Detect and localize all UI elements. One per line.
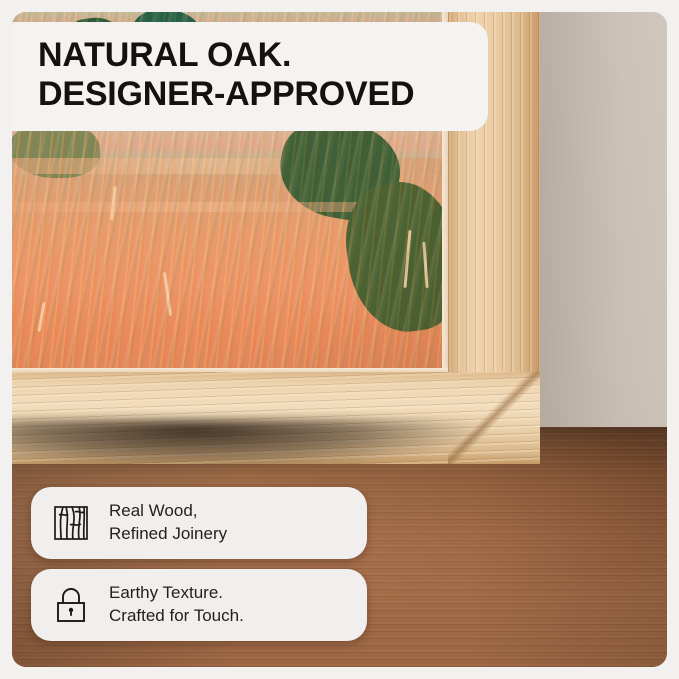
wood-grain-icon	[49, 501, 93, 545]
feature-card-text: Earthy Texture. Crafted for Touch.	[109, 582, 244, 628]
feature-line-2: Refined Joinery	[109, 523, 227, 546]
feature-line-1: Earthy Texture.	[109, 582, 244, 605]
feature-card-list: Real Wood, Refined Joinery Earthy Textur…	[31, 487, 367, 641]
feature-line-2: Crafted for Touch.	[109, 605, 244, 628]
headline-banner: NATURAL OAK. DESIGNER-APPROVED	[12, 22, 488, 131]
wall-shadow	[532, 12, 667, 482]
feature-card-real-wood: Real Wood, Refined Joinery	[31, 487, 367, 559]
frame-contact-shadow	[12, 420, 530, 466]
feature-card-text: Real Wood, Refined Joinery	[109, 500, 227, 546]
photo-plate: NATURAL OAK. DESIGNER-APPROVED	[12, 12, 667, 667]
headline-line-1: NATURAL OAK.	[38, 36, 470, 75]
feature-line-1: Real Wood,	[109, 500, 227, 523]
product-image: NATURAL OAK. DESIGNER-APPROVED	[0, 0, 679, 679]
feature-card-earthy-texture: Earthy Texture. Crafted for Touch.	[31, 569, 367, 641]
lock-icon	[49, 583, 93, 627]
headline-line-2: DESIGNER-APPROVED	[38, 75, 470, 114]
